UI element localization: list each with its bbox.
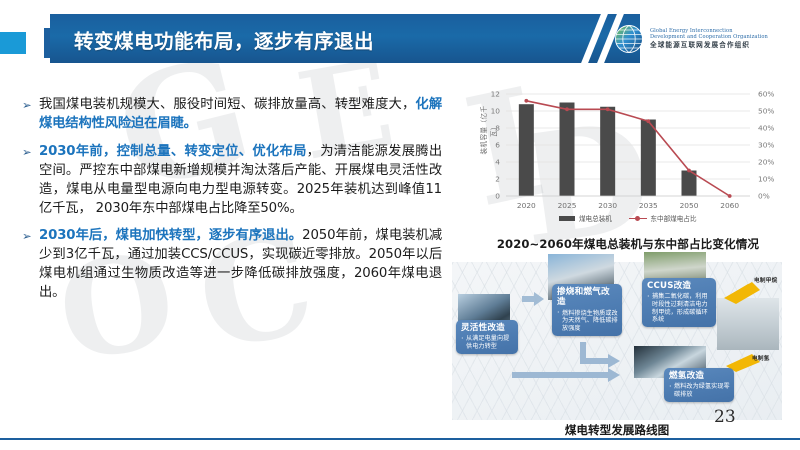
legend-item-line: 东中部煤电占比	[629, 213, 697, 223]
node-detail: 燃料掺烧生物质或改为天然气、降低碳排放强度	[557, 310, 618, 333]
chart-line-point	[565, 107, 569, 111]
node-detail: 捕集二氧化碳，利用时段性过剩清洁电力制甲烷，形成碳循环系统	[647, 293, 712, 323]
chart-plot-area: 0246810120%10%20%30%40%50%60%20202025203…	[460, 84, 796, 232]
roadmap-node-hydrogen[interactable]: 燃氢改造 燃料改为绿氢实现零碳排放	[664, 368, 734, 402]
chart-y2-tick: 40%	[758, 124, 774, 133]
chart-y2-tick: 0%	[758, 192, 770, 201]
chart-bar	[600, 107, 615, 196]
logo-text-en-line2: Development and Cooperation Organization	[650, 35, 768, 41]
chart-line-point	[687, 169, 691, 173]
bullet-arrow-icon: ➢	[22, 143, 39, 162]
node-detail: 从满足电量向提供电力转型	[461, 335, 514, 350]
arrow-label-power-to-hydrogen: 电制氢	[752, 354, 770, 362]
chart-caption: 2020~2060年煤电总装机与东中部占比变化情况	[460, 236, 796, 252]
legend-label-line: 东中部煤电占比	[650, 213, 696, 223]
roadmap-node-flexibility[interactable]: 灵活性改造 从满足电量向提供电力转型	[456, 320, 518, 354]
chart-x-tick: 2060	[720, 201, 739, 210]
chart-x-tick: 2030	[598, 201, 617, 210]
bullet-arrow-icon: ➢	[22, 96, 39, 115]
chart-line-point	[728, 194, 732, 198]
roadmap-diagram: 灵活性改造 从满足电量向提供电力转型 掺烧和燃气改造 燃料掺烧生物质或改为天然气…	[452, 262, 782, 420]
bullet-item: ➢ 2030年后，煤电加快转型，逐步有序退出。2050年前，煤电装机减少到3亿千…	[22, 227, 442, 303]
chart-x-tick: 2050	[680, 201, 699, 210]
bullet-text: 2030年前，控制总量、转变定位、优化布局，为清洁能源发展腾出空间。严控东中部煤…	[39, 143, 442, 219]
chart-y-tick: 0	[495, 192, 500, 201]
chart-bar	[519, 104, 534, 196]
bullet-text-highlight: 2030年前，控制总量、转变定位、优化布局	[39, 144, 307, 159]
chart-bar	[641, 120, 656, 197]
chart-y-tick: 10	[491, 107, 501, 116]
bullet-text: 2030年后，煤电加快转型，逐步有序退出。2050年前，煤电装机减少到3亿千瓦，…	[39, 227, 442, 303]
roadmap-node-cofiring-gas[interactable]: 掺烧和燃气改造 燃料掺烧生物质或改为天然气、降低碳排放强度	[552, 284, 622, 336]
arrow-label-power-to-methane: 电制甲烷	[754, 276, 778, 284]
chart-y2-tick: 60%	[758, 90, 774, 99]
bullet-text: 我国煤电装机规模大、服役时间短、碳排放量高、转型难度大，化解煤电结构性风险迫在眉…	[39, 96, 442, 134]
chart-y-tick: 12	[491, 90, 500, 99]
organization-logo: Global Energy Interconnection Developmen…	[614, 18, 800, 60]
chart-y2-tick: 30%	[758, 141, 774, 150]
node-title: 燃氢改造	[669, 371, 730, 381]
chart-y-tick: 4	[495, 158, 500, 167]
legend-swatch-line	[629, 215, 647, 222]
chart-combo-installed-capacity: 装机容量（亿千瓦） 0246810120%10%20%30%40%50%60%2…	[460, 84, 796, 254]
title-accent-square-cyan	[0, 32, 26, 54]
bullet-arrow-icon: ➢	[22, 227, 39, 246]
bullet-text-plain: 我国煤电装机规模大、服役时间短、碳排放量高、转型难度大，	[39, 97, 415, 112]
chart-line-point	[606, 107, 610, 111]
node-title: CCUS改造	[647, 281, 712, 291]
legend-item-bar: 煤电总装机	[559, 213, 611, 223]
chart-x-tick: 2020	[517, 201, 536, 210]
page-title: 转变煤电功能布局，逐步有序退出	[74, 25, 374, 54]
bullet-list: ➢ 我国煤电装机规模大、服役时间短、碳排放量高、转型难度大，化解煤电结构性风险迫…	[22, 96, 442, 312]
chart-line-point	[524, 99, 528, 103]
node-title: 灵活性改造	[461, 323, 514, 333]
chart-y-tick: 8	[495, 124, 500, 133]
bullet-text-highlight: 2030年后，煤电加快转型，逐步有序退出。	[39, 228, 302, 243]
page-number: 23	[714, 407, 736, 427]
chart-y2-tick: 20%	[758, 158, 774, 167]
chart-y2-tick: 10%	[758, 175, 774, 184]
chart-line-point	[646, 119, 650, 123]
legend-swatch-bar	[559, 216, 575, 221]
chart-legend: 煤电总装机 东中部煤电占比	[460, 213, 796, 223]
legend-label-bar: 煤电总装机	[579, 213, 612, 223]
globe-icon	[614, 24, 644, 54]
chart-bar	[560, 103, 575, 197]
chart-x-tick: 2025	[558, 201, 577, 210]
node-title: 掺烧和燃气改造	[557, 287, 618, 308]
bullet-item: ➢ 2030年前，控制总量、转变定位、优化布局，为清洁能源发展腾出空间。严控东中…	[22, 143, 442, 219]
roadmap-node-ccus[interactable]: CCUS改造 捕集二氧化碳，利用时段性过剩清洁电力制甲烷，形成碳循环系统	[642, 278, 716, 327]
footer-band	[0, 440, 800, 450]
chart-y2-tick: 50%	[758, 107, 774, 116]
chart-line	[526, 101, 729, 196]
chart-y-tick: 2	[495, 175, 500, 184]
chart-y-tick: 6	[495, 141, 500, 150]
chart-x-tick: 2035	[639, 201, 658, 210]
bullet-item: ➢ 我国煤电装机规模大、服役时间短、碳排放量高、转型难度大，化解煤电结构性风险迫…	[22, 96, 442, 134]
node-detail: 燃料改为绿氢实现零碳排放	[669, 383, 730, 398]
logo-text-cn: 全球能源互联网发展合作组织	[650, 42, 768, 49]
